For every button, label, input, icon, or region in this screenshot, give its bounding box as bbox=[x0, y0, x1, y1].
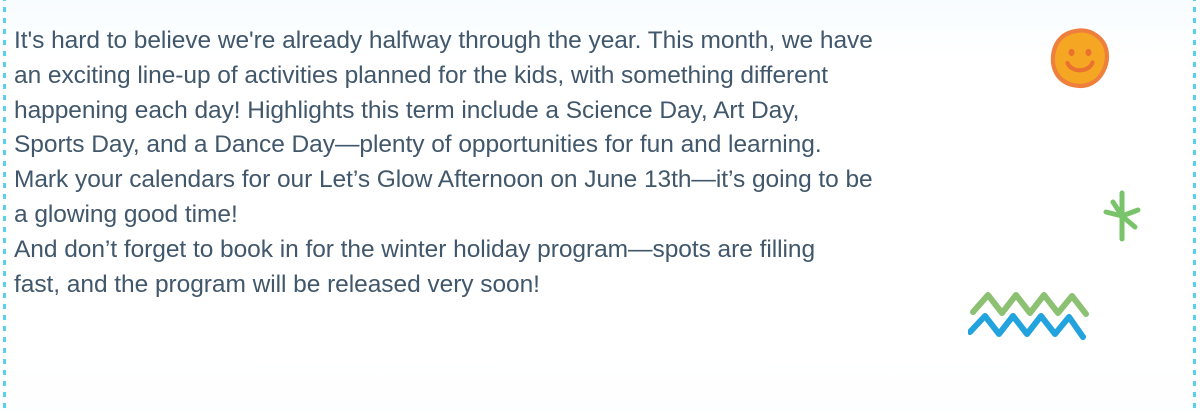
body-line: an exciting line-up of activities planne… bbox=[14, 59, 1014, 94]
newsletter-body: It's hard to believe we're already halfw… bbox=[14, 24, 1014, 302]
smiley-face-icon bbox=[1049, 27, 1111, 89]
newsletter-page: It's hard to believe we're already halfw… bbox=[0, 0, 1200, 411]
body-line: happening each day! Highlights this term… bbox=[14, 94, 1014, 129]
green-sparkle-icon bbox=[1099, 189, 1145, 243]
dashed-edge-rule-right bbox=[1193, 0, 1196, 411]
dashed-edge-rule-left bbox=[3, 0, 6, 411]
body-line: And don’t forget to book in for the wint… bbox=[14, 233, 1014, 268]
body-line: a glowing good time! bbox=[14, 198, 1014, 233]
body-line: Sports Day, and a Dance Day—plenty of op… bbox=[14, 128, 1014, 163]
body-line: fast, and the program will be released v… bbox=[14, 268, 1014, 303]
body-line: Mark your calendars for our Let’s Glow A… bbox=[14, 163, 1014, 198]
body-line: It's hard to believe we're already halfw… bbox=[14, 24, 1014, 59]
zigzag-waves-icon bbox=[968, 288, 1092, 350]
